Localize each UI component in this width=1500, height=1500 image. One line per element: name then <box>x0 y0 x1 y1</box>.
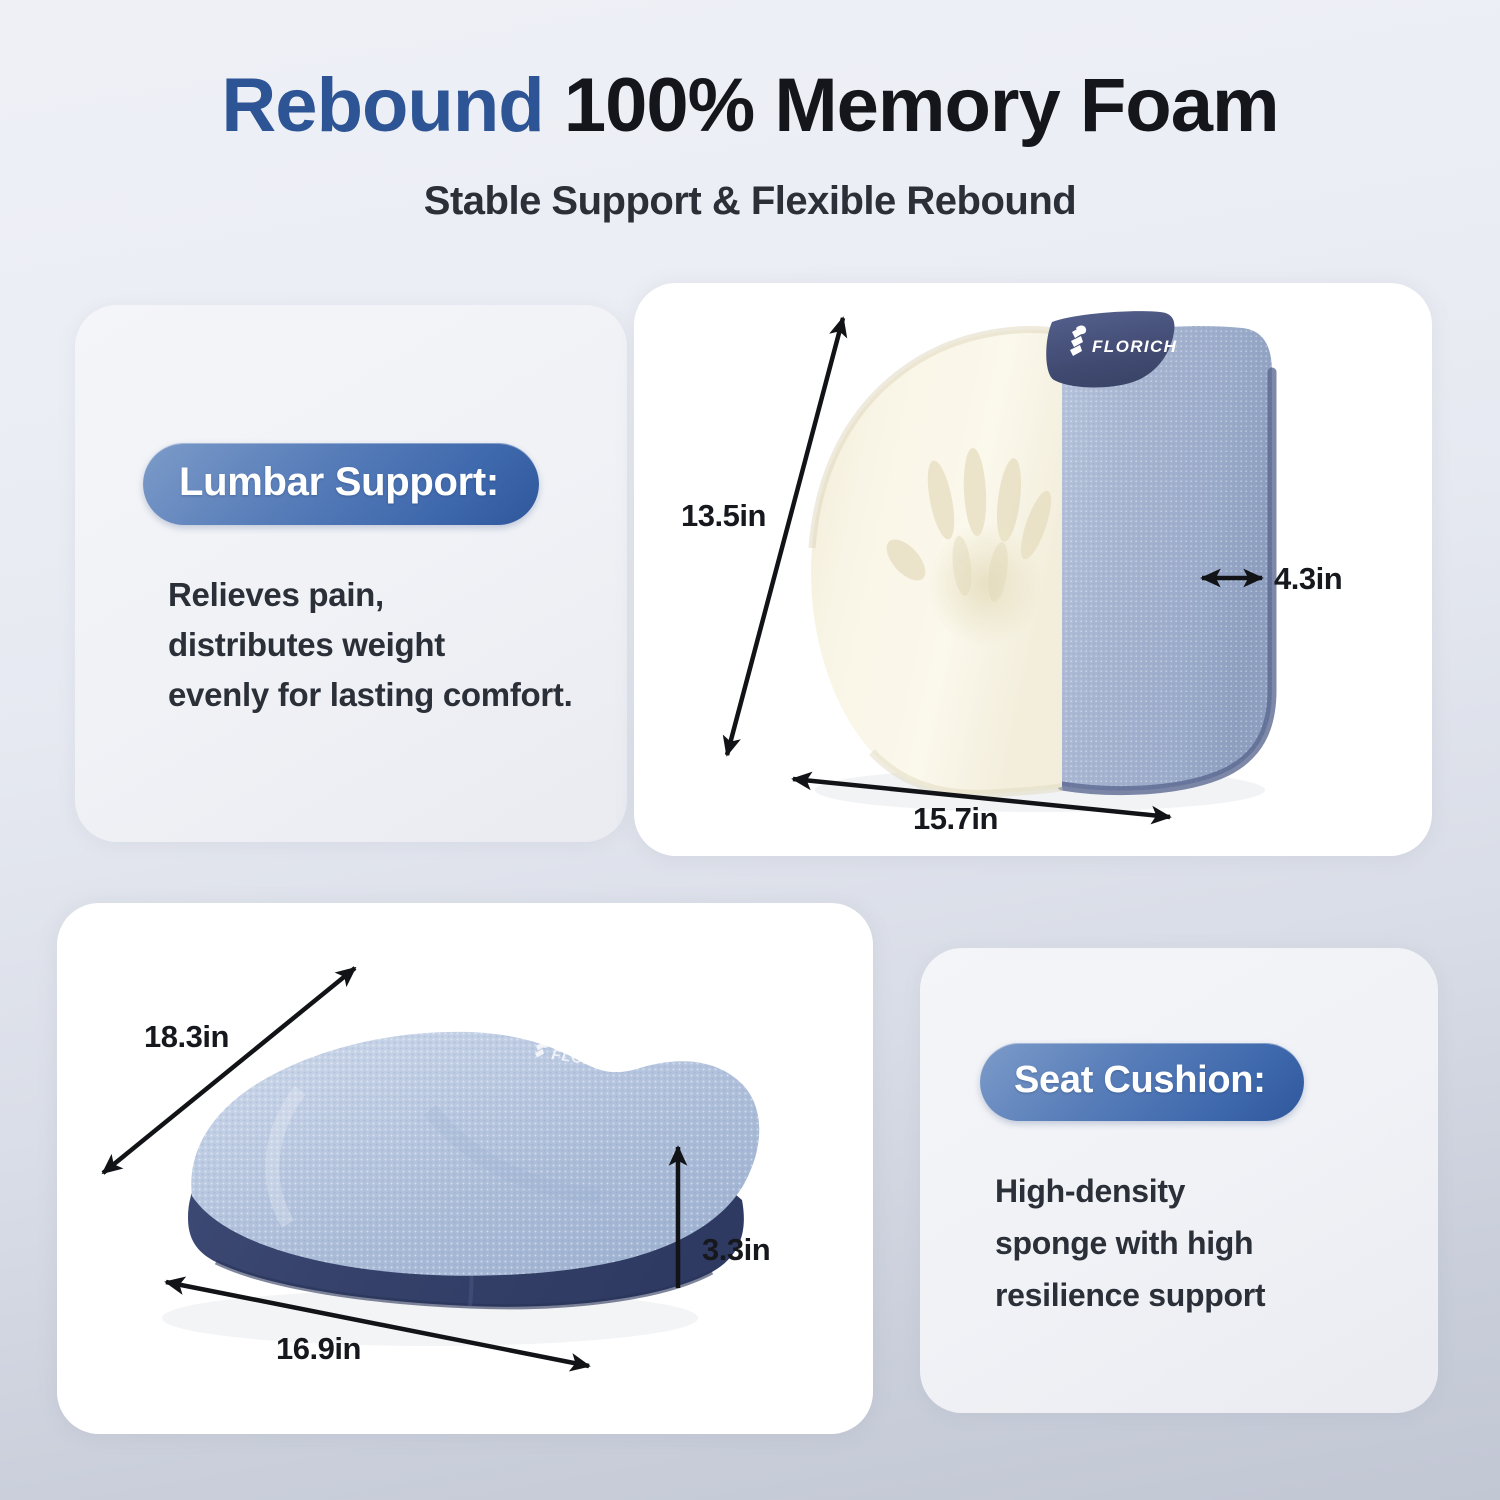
dimension-label-depth-lumbar: 4.3in <box>1274 561 1342 597</box>
seat-line-3: resilience support <box>995 1270 1395 1322</box>
seat-cushion-description: High-density sponge with high resilience… <box>995 1166 1395 1321</box>
lumbar-support-description: Relieves pain, distributes weight evenly… <box>168 570 608 720</box>
seat-line-1: High-density <box>995 1166 1395 1218</box>
page-title: Rebound 100% Memory Foam <box>0 62 1500 149</box>
dimension-label-thickness-seat: 3.3in <box>702 1232 770 1268</box>
dimension-label-width-seat: 16.9in <box>276 1331 361 1367</box>
dimension-label-depth-seat: 18.3in <box>144 1019 229 1055</box>
title-accent-word: Rebound <box>221 63 543 148</box>
title-rest: 100% Memory Foam <box>564 63 1279 148</box>
seat-cushion-image-card <box>57 903 873 1434</box>
lumbar-line-1: Relieves pain, <box>168 570 608 620</box>
badge-lumbar-support: Lumbar Support: <box>143 443 539 525</box>
page-subtitle: Stable Support & Flexible Rebound <box>0 179 1500 224</box>
lumbar-line-2: distributes weight <box>168 620 608 670</box>
dimension-label-width-lumbar: 15.7in <box>913 801 998 837</box>
lumbar-line-3: evenly for lasting comfort. <box>168 670 608 720</box>
dimension-label-height-lumbar: 13.5in <box>681 498 766 534</box>
badge-seat-cushion: Seat Cushion: <box>980 1043 1304 1121</box>
seat-line-2: sponge with high <box>995 1218 1395 1270</box>
header: Rebound 100% Memory Foam Stable Support … <box>0 0 1500 224</box>
